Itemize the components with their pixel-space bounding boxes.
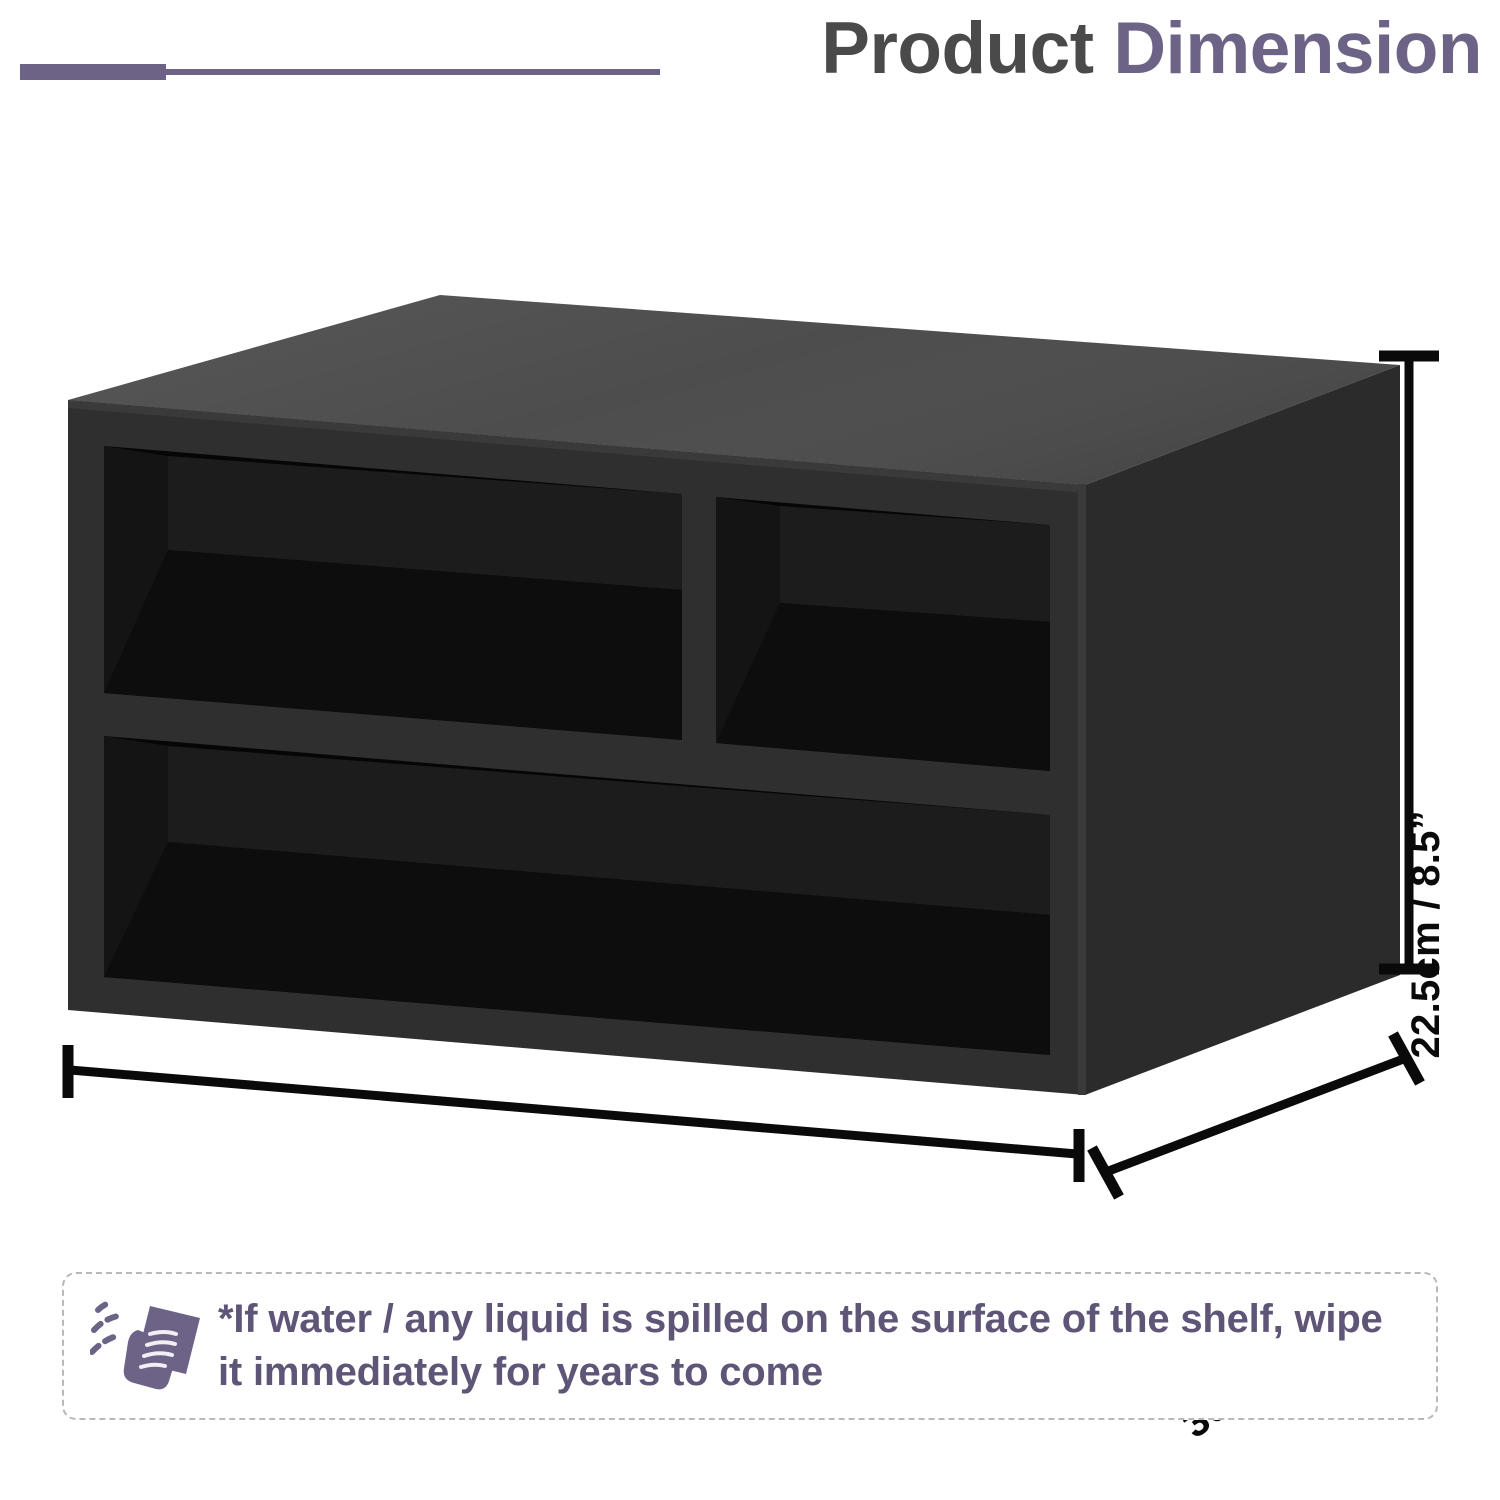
shelf-body — [68, 295, 1400, 1095]
hand-with-cloth — [124, 1306, 200, 1389]
upper-left-compartment — [104, 446, 682, 740]
title-decorative-rule — [20, 57, 660, 87]
height-dimension-label: 22.5cm / 8.5” — [1404, 810, 1449, 1059]
rule-thin-segment — [166, 69, 660, 75]
page-title-word-dimension: Dimension — [1113, 8, 1482, 89]
wiping-hand-cloth-icon — [90, 1290, 208, 1402]
shelf-front-right-corner-edge — [1078, 484, 1086, 1095]
rule-thick-segment — [20, 64, 166, 80]
upper-right-cavity-back-wall — [780, 506, 1050, 622]
header: Product Dimension — [0, 0, 1500, 130]
upper-right-compartment — [716, 497, 1050, 771]
page-title: Product Dimension — [821, 12, 1482, 85]
shelf-right-side-face — [1085, 365, 1400, 1095]
product-3d-drawing — [0, 250, 1500, 1240]
product-illustration: 22.5cm / 8.5” 40cm / 15.7” 30cm / 12” — [0, 250, 1500, 1240]
page-title-word-product: Product — [821, 8, 1113, 89]
care-note-box: *If water / any liquid is spilled on the… — [62, 1272, 1438, 1420]
wipe-motion-arcs — [92, 1302, 120, 1352]
care-note-text: *If water / any liquid is spilled on the… — [218, 1293, 1410, 1399]
